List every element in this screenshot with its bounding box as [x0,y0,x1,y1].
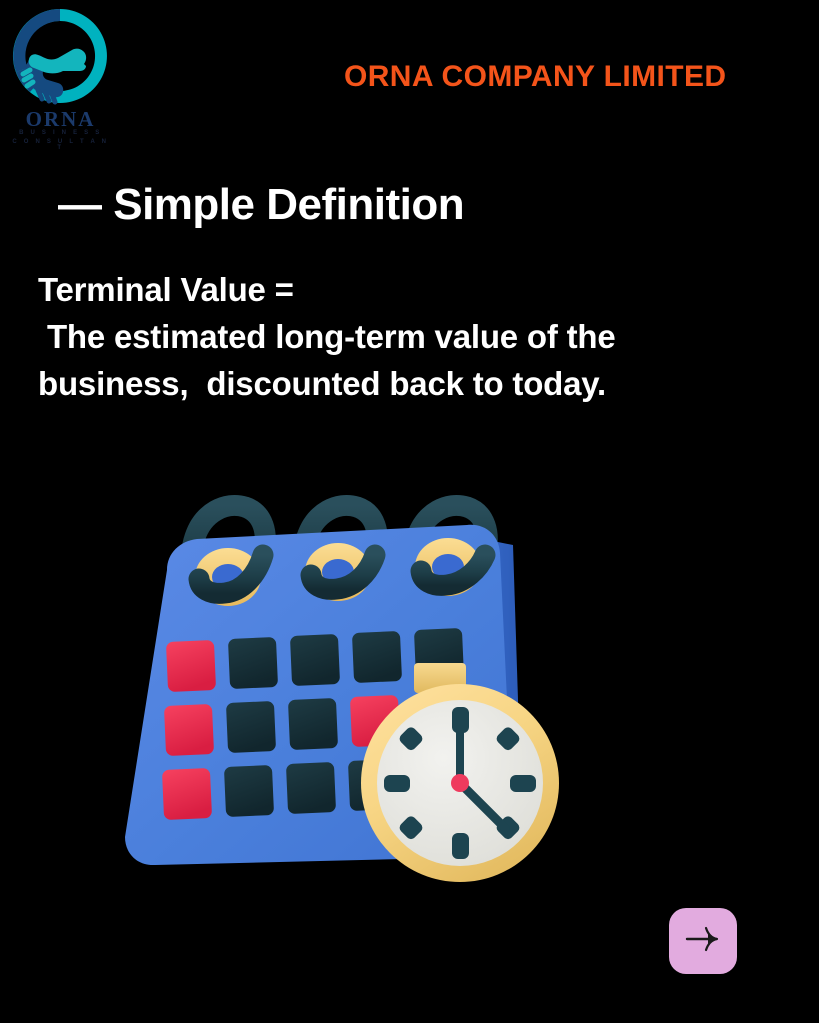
logo-wordmark: ORNA [8,107,113,132]
handshake-circle-icon [8,4,113,109]
definition-line-1: Terminal Value = [38,266,758,313]
company-title: ORNA COMPANY LIMITED [344,60,764,94]
definition-line-2: The estimated long-term value of the [38,313,758,360]
logo-subtitle-business: B U S I N E S S [8,130,113,136]
next-slide-button[interactable] [669,908,737,974]
logo-subtitle-consultant: C O N S U L T A N T [8,139,113,151]
definition-text: Terminal Value = The estimated long-term… [38,266,758,407]
stopwatch [361,684,559,882]
logo: ORNA B U S I N E S S C O N S U L T A N T [8,4,113,154]
page-title: — Simple Definition [58,180,464,230]
definition-line-3: business, discounted back to today. [38,360,758,407]
arrow-right-icon [683,925,723,958]
calendar-stopwatch-illustration [95,465,595,905]
